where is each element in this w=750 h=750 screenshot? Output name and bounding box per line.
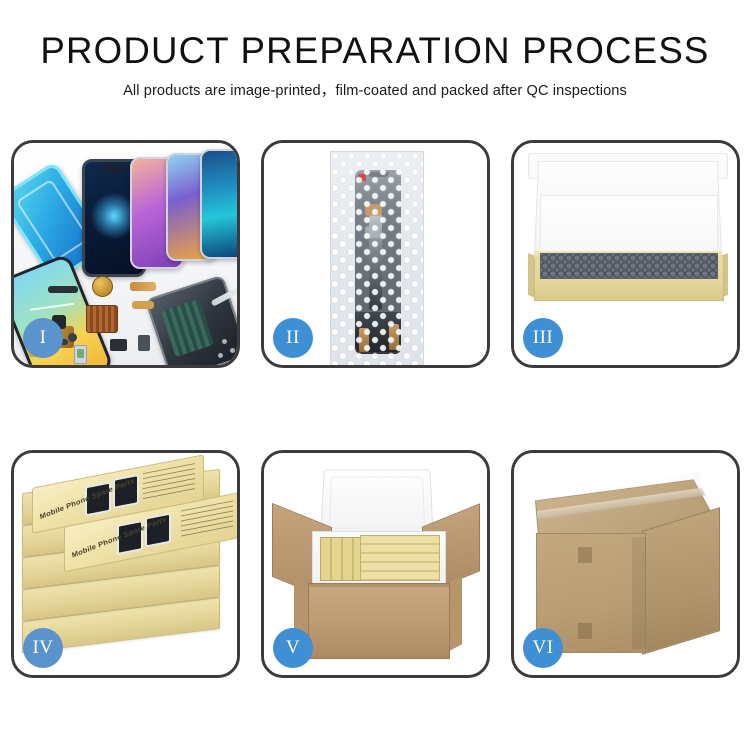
header: PRODUCT PREPARATION PROCESS All products… — [0, 28, 750, 102]
step-badge-4: IV — [23, 628, 63, 668]
battery-part — [138, 335, 150, 351]
page-subtitle: All products are image-printed，film-coat… — [0, 80, 750, 102]
gold-boxes-inside — [360, 535, 440, 581]
process-step-1[interactable]: I — [11, 140, 240, 368]
bubble-texture — [331, 152, 423, 365]
screw-part — [218, 353, 223, 358]
carton-front-panel — [308, 583, 450, 659]
screw-part — [222, 339, 227, 344]
process-step-5[interactable]: V — [261, 450, 490, 678]
box-spec-lines — [181, 500, 233, 540]
carton-side-panel — [642, 507, 720, 655]
bubble-wrap-bag — [330, 151, 424, 365]
process-steps-grid: I II — [11, 140, 741, 678]
sim-tray-part — [74, 345, 87, 364]
step-badge-6: VI — [523, 628, 563, 668]
gold-flex-cable-part — [130, 282, 156, 291]
home-button-part — [68, 333, 77, 342]
vibration-motor-part — [92, 276, 113, 297]
foam-lid — [320, 469, 434, 536]
step-badge-3: III — [523, 318, 563, 358]
carton-handle-tab — [578, 623, 592, 639]
gold-connector-part — [132, 301, 154, 309]
process-step-3[interactable]: III — [511, 140, 740, 368]
flex-cable-part — [48, 286, 78, 293]
step-badge-5: V — [273, 628, 313, 668]
page-title: PRODUCT PREPARATION PROCESS — [4, 28, 747, 74]
box-spec-lines — [143, 463, 195, 503]
bubble-wrapped-contents — [540, 253, 718, 279]
carton-corner-seam — [632, 537, 646, 649]
process-step-4[interactable]: Mobile Phone Spare Parts Mobile Phone Sp… — [11, 450, 240, 678]
step-badge-1: I — [23, 318, 63, 358]
screw-part — [230, 348, 235, 353]
teal-wave-phone — [200, 149, 237, 259]
process-step-6[interactable]: VI — [511, 450, 740, 678]
step-badge-2: II — [273, 318, 313, 358]
carton-handle-tab — [578, 547, 592, 563]
product-preparation-infographic: PRODUCT PREPARATION PROCESS All products… — [0, 0, 750, 750]
sealed-carton — [532, 475, 722, 653]
process-step-2[interactable]: II — [261, 140, 490, 368]
copper-shield-part — [86, 305, 118, 333]
speaker-part — [110, 339, 127, 351]
